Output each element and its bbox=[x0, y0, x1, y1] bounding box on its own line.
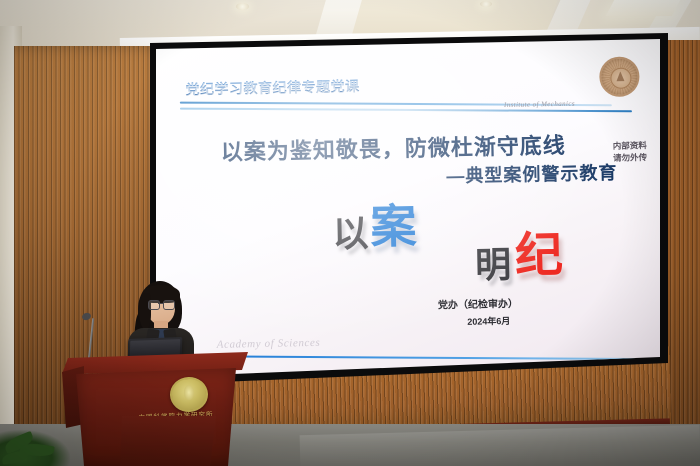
podium: 中国科学院力学研究所 bbox=[62, 352, 248, 466]
glasses-lens-right bbox=[163, 300, 175, 310]
slide-kicker: 党纪学习教育纪律专题党课 bbox=[185, 76, 359, 99]
big-char-3: 明 bbox=[475, 247, 512, 284]
podium-base bbox=[120, 416, 216, 466]
slide-bottom-line bbox=[195, 355, 639, 360]
slide: 党纪学习教育纪律专题党课 Institute of Mechanics 以案为鉴… bbox=[156, 39, 660, 377]
slide-watermark: Academy of Sciences bbox=[217, 337, 321, 351]
glasses-icon bbox=[148, 300, 174, 308]
confidential-line-1: 内部资料 bbox=[613, 139, 647, 152]
big-char-4: 纪 bbox=[515, 232, 564, 281]
podium-emblem-icon bbox=[169, 376, 208, 412]
recessed-light-icon bbox=[480, 1, 492, 7]
big-char-2: 案 bbox=[370, 203, 417, 250]
confidential-notice: 内部资料 请勿外传 bbox=[613, 139, 648, 164]
institute-name-en: Institute of Mechanics bbox=[504, 100, 575, 109]
projection-screen: 党纪学习教育纪律专题党课 Institute of Mechanics 以案为鉴… bbox=[156, 39, 660, 377]
recessed-light-icon bbox=[236, 3, 249, 10]
slide-divider-line bbox=[180, 108, 632, 112]
institute-emblem-icon bbox=[599, 56, 640, 97]
slide-organization: 党办（纪检审办） bbox=[158, 295, 518, 317]
glasses-lens-left bbox=[148, 300, 160, 310]
confidential-line-2: 请勿外传 bbox=[613, 152, 647, 165]
slide-date: 2024年6月 bbox=[158, 314, 510, 334]
ceiling-skylight bbox=[606, 0, 681, 16]
speaker-side-hair bbox=[139, 293, 151, 329]
big-char-1: 以 bbox=[332, 216, 369, 253]
conference-room-photo: 党纪学习教育纪律专题党课 Institute of Mechanics 以案为鉴… bbox=[0, 0, 700, 466]
emblem-core bbox=[610, 67, 631, 88]
